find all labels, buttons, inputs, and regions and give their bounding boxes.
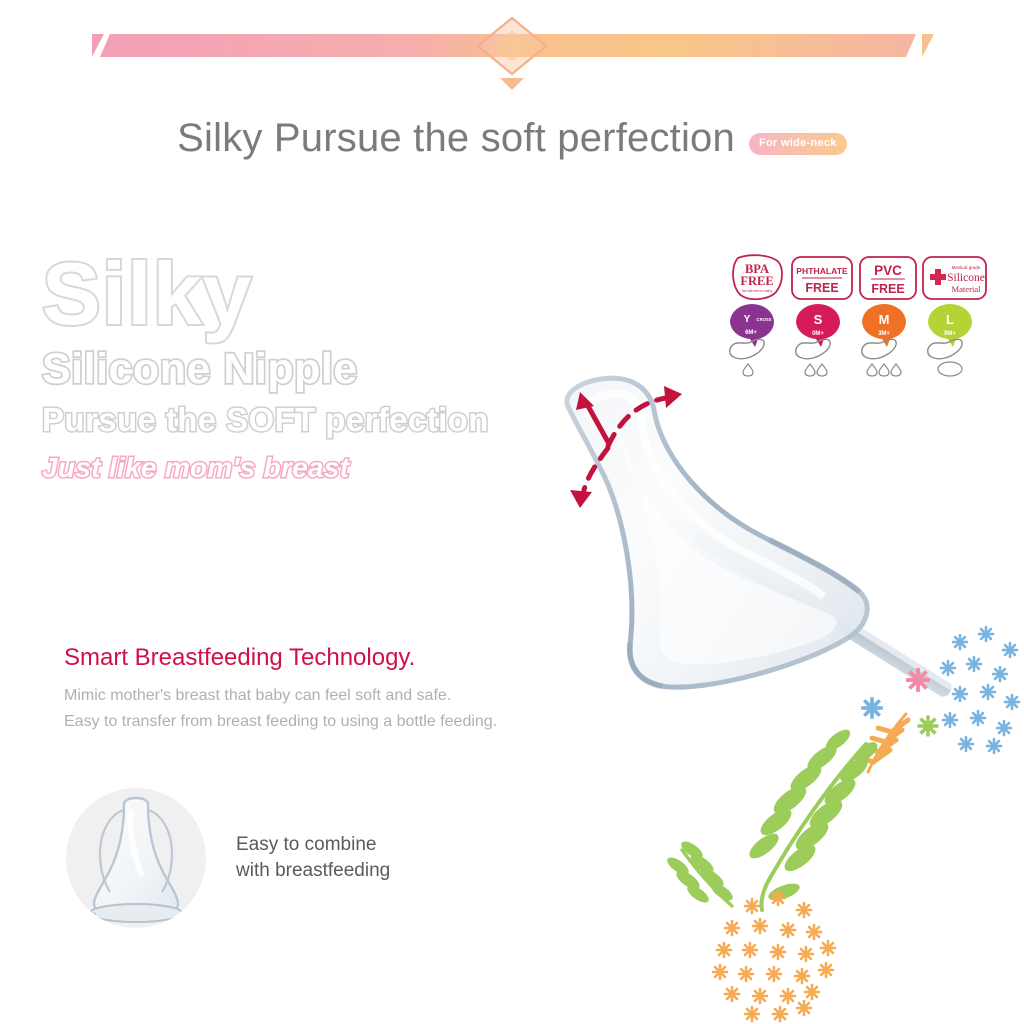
headline-row: Silky Pursue the soft perfection For wid…	[0, 118, 1024, 158]
orange-flower-cluster	[713, 891, 835, 1021]
badge-pvc-free: PVC FREE	[860, 257, 916, 299]
svg-text:FREE: FREE	[740, 274, 773, 288]
arrow-up-right-head	[664, 386, 682, 408]
combine-block: Easy to combine with breastfeeding	[66, 788, 390, 928]
smart-technology-block: Smart Breastfeeding Technology. Mimic mo…	[64, 645, 664, 735]
svg-text:PHTHALATE: PHTHALATE	[796, 266, 848, 276]
smart-body-line-1: Mimic mother's breast that baby can feel…	[64, 683, 664, 709]
blue-flower-single	[861, 697, 883, 719]
svg-text:Silicone: Silicone	[947, 272, 985, 284]
decorative-banner	[0, 0, 1024, 90]
svg-text:Medical grade: Medical grade	[952, 265, 981, 270]
svg-text:0M+: 0M+	[812, 331, 824, 337]
svg-text:FREE: FREE	[805, 281, 838, 295]
hero-line-silicone: Silicone Nipple	[42, 348, 602, 391]
combine-caption: Easy to combine with breastfeeding	[236, 832, 390, 883]
svg-text:CROSS: CROSS	[757, 317, 772, 322]
green-flower	[918, 716, 939, 737]
svg-text:6M+: 6M+	[745, 330, 757, 336]
badge-medical-grade-silicone: Medical grade Silicone Material	[923, 257, 986, 299]
green-fern-small	[665, 839, 734, 906]
svg-text:No harmful to baby: No harmful to baby	[742, 289, 773, 293]
svg-text:L: L	[946, 312, 954, 327]
badge-phthalate-free: PHTHALATE FREE	[792, 257, 852, 299]
page-title: Silky Pursue the soft perfection	[177, 118, 735, 158]
red-cross-icon	[930, 269, 946, 285]
badge-bpa-free: BPA FREE No harmful to baby	[733, 255, 782, 299]
svg-text:FREE: FREE	[871, 282, 904, 296]
svg-text:3M+: 3M+	[878, 331, 890, 337]
svg-text:Y: Y	[744, 314, 751, 325]
combine-caption-line-1: Easy to combine	[236, 832, 390, 858]
floral-decoration	[660, 610, 1024, 1024]
svg-text:PVC: PVC	[874, 263, 902, 278]
blue-flower-cluster	[941, 627, 1019, 753]
hero-line-mom: Just like mom's breast	[42, 454, 602, 482]
product-detail-page: Silky Pursue the soft perfection For wid…	[0, 0, 1024, 1024]
wide-neck-badge: For wide-neck	[749, 133, 847, 155]
green-fern-large	[746, 727, 880, 910]
hero-title-silky: Silky	[42, 250, 602, 338]
svg-text:9M+: 9M+	[944, 331, 956, 337]
arrow-down-left-head	[570, 490, 592, 508]
smart-body-line-2: Easy to transfer from breast feeding to …	[64, 709, 664, 735]
svg-text:S: S	[814, 312, 823, 327]
hero-text-block: Silky Silicone Nipple Pursue the SOFT pe…	[42, 250, 602, 482]
certification-badge-row: BPA FREE No harmful to baby PHTHALATE FR…	[726, 252, 988, 304]
smart-body: Mimic mother's breast that baby can feel…	[64, 683, 664, 735]
pink-flower	[906, 668, 930, 692]
svg-text:M: M	[879, 312, 890, 327]
svg-text:Material: Material	[951, 284, 981, 294]
smart-title: Smart Breastfeeding Technology.	[64, 645, 664, 671]
combine-thumbnail	[66, 788, 206, 928]
hero-line-pursue: Pursue the SOFT perfection	[42, 403, 602, 436]
combine-caption-line-2: with breastfeeding	[236, 858, 390, 884]
